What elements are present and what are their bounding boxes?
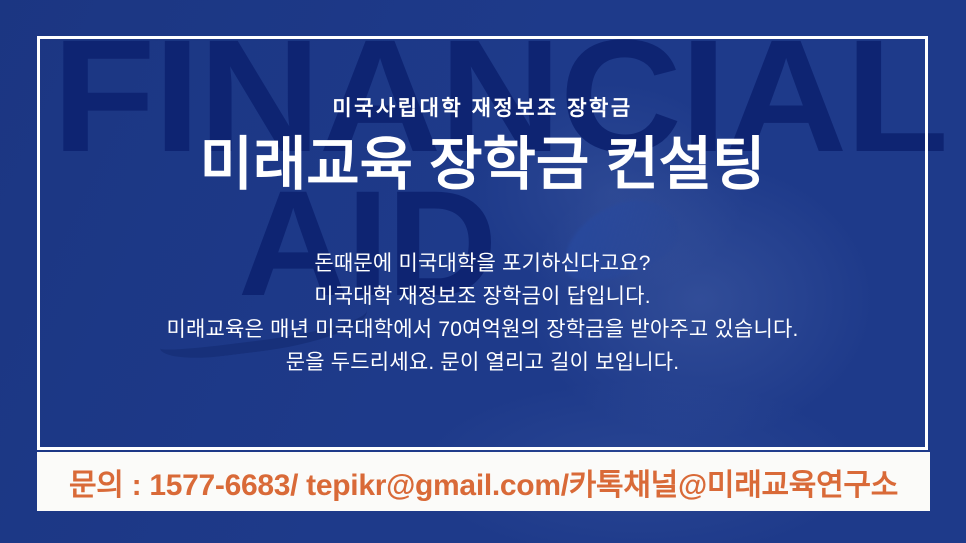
poster-headline: 미래교육 장학금 컨설팅 xyxy=(40,134,925,197)
poster-content: 미국사립대학 재정보조 장학금 미래교육 장학금 컨설팅 돈때문에 미국대학을 … xyxy=(40,36,925,379)
body-line: 돈때문에 미국대학을 포기하신다고요? xyxy=(40,247,925,280)
contact-info-text[interactable]: 문의 : 1577-6683/ tepikr@gmail.com/카톡채널@미래… xyxy=(69,460,898,504)
contact-bar: 문의 : 1577-6683/ tepikr@gmail.com/카톡채널@미래… xyxy=(37,452,930,511)
promo-poster: FINANCIAL AID 미국사립대학 재정보조 장학금 미래교육 장학금 컨… xyxy=(0,0,966,543)
poster-body-copy: 돈때문에 미국대학을 포기하신다고요? 미국대학 재정보조 장학금이 답입니다.… xyxy=(40,247,925,380)
poster-eyebrow: 미국사립대학 재정보조 장학금 xyxy=(40,92,925,122)
body-line: 미래교육은 매년 미국대학에서 70여억원의 장학금을 받아주고 있습니다. xyxy=(40,313,925,346)
body-line: 미국대학 재정보조 장학금이 답입니다. xyxy=(40,280,925,313)
body-line: 문을 두드리세요. 문이 열리고 길이 보입니다. xyxy=(40,346,925,379)
